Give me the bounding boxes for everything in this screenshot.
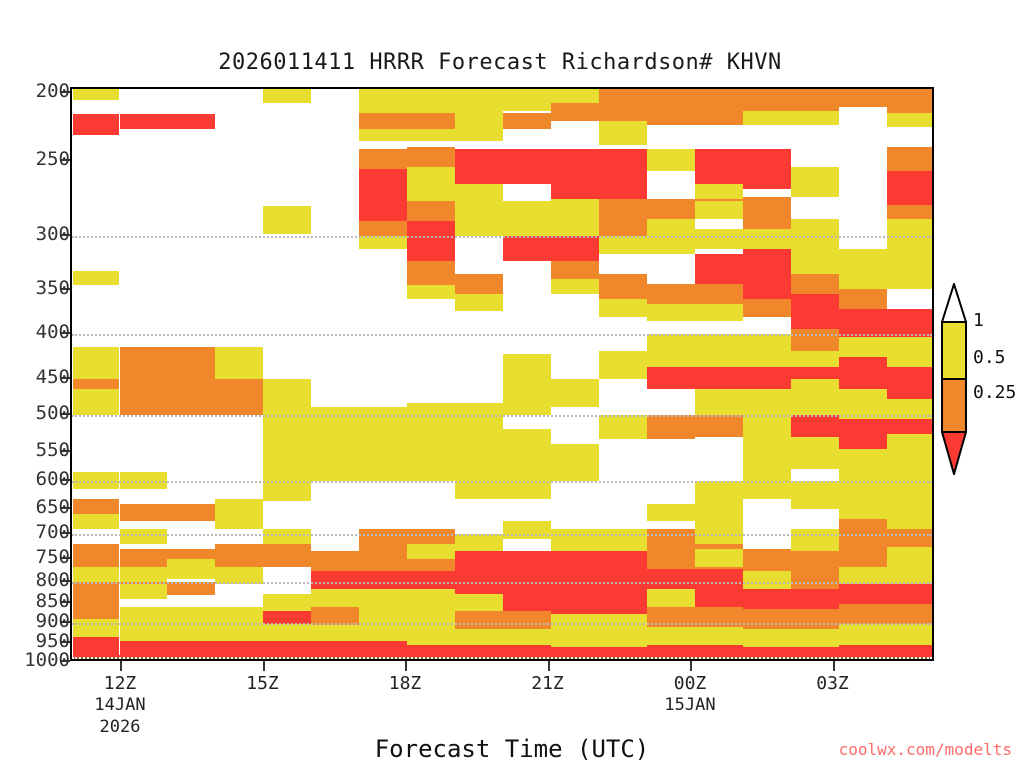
x-tick-year-label: 2026 — [100, 717, 141, 737]
heatmap-cell — [839, 249, 887, 289]
heatmap-cell — [215, 567, 263, 584]
x-tick-mark — [263, 661, 265, 671]
heatmap-cell — [455, 429, 551, 499]
y-tick-label: 300 — [8, 223, 70, 245]
heatmap-cell — [263, 481, 311, 501]
heatmap-cell — [263, 439, 311, 481]
heatmap-cell — [503, 594, 551, 611]
heatmap-cell — [887, 547, 934, 569]
heatmap-cell — [455, 594, 503, 611]
heatmap-cell — [120, 624, 215, 641]
y-tick-label: 1000 — [8, 649, 70, 671]
heatmap-cell — [695, 389, 791, 415]
y-tick-label: 600 — [8, 468, 70, 490]
heatmap-cell — [73, 89, 119, 100]
heatmap-cell — [839, 624, 934, 645]
colorbar-tick-label: 1 — [973, 310, 984, 331]
heatmap-cell — [359, 571, 455, 589]
heatmap-cell — [791, 294, 839, 329]
colorbar-tick-label: 0.25 — [973, 382, 1016, 403]
heatmap-cell — [887, 337, 934, 367]
heatmap-cell — [120, 114, 215, 129]
heatmap-cell — [455, 294, 503, 311]
heatmap-cell — [455, 149, 551, 184]
heatmap-cell — [647, 529, 695, 544]
heatmap-cell — [647, 149, 695, 171]
heatmap-cell — [839, 584, 934, 604]
heatmap-cell — [647, 415, 695, 439]
heatmap-cell — [359, 589, 455, 607]
heatmap-cell — [743, 89, 839, 111]
page-title: 2026011411 HRRR Forecast Richardson# KHV… — [0, 50, 1000, 75]
heatmap-cell — [263, 594, 311, 611]
heatmap-cell — [791, 167, 839, 197]
heatmap-cell — [407, 167, 455, 201]
heatmap-cell — [551, 444, 599, 481]
heatmap-cell — [455, 105, 503, 141]
x-tick-label: 15Z — [246, 673, 279, 694]
heatmap-cell — [73, 567, 119, 582]
y-tick-label: 550 — [8, 439, 70, 461]
heatmap-cell — [407, 221, 455, 261]
heatmap-cell — [695, 149, 743, 184]
x-tick-date-label: 15JAN — [664, 695, 715, 715]
heatmap-cell — [551, 379, 599, 407]
heatmap-cell — [887, 89, 934, 113]
colorbar-body — [941, 321, 967, 431]
heatmap-cell — [73, 119, 119, 135]
heatmap-cell — [73, 619, 119, 637]
heatmap-cell — [743, 571, 791, 589]
y-tick-label: 750 — [8, 546, 70, 568]
heatmap-cell — [743, 111, 839, 125]
heatmap-cell — [359, 429, 455, 481]
x-tick-date-label: 14JAN — [94, 695, 145, 715]
heatmap-cell — [743, 149, 791, 189]
heatmap-cell — [263, 206, 311, 234]
heatmap-cell — [743, 437, 839, 469]
y-tick-label: 900 — [8, 610, 70, 632]
heatmap-cell — [215, 514, 263, 529]
heatmap-cell — [263, 611, 311, 625]
heatmap-cell — [791, 481, 839, 509]
heatmap-cell — [551, 551, 647, 577]
heatmap-cell — [839, 481, 887, 519]
heatmap-cell — [887, 205, 934, 219]
heatmap-cell — [359, 89, 455, 113]
heatmap-cell — [407, 147, 455, 167]
heatmap-cell — [215, 379, 263, 415]
heatmap-cell — [503, 201, 551, 236]
heatmap-cell — [647, 367, 743, 389]
heatmap-cell — [599, 415, 647, 439]
heatmap-cell — [743, 629, 839, 647]
y-axis: 2002503003504004505005506006507007508008… — [0, 87, 70, 661]
heatmap-cell — [73, 499, 119, 514]
heatmap-cell — [551, 279, 599, 294]
plot-area — [70, 87, 934, 661]
heatmap-cell — [73, 637, 119, 655]
heatmap-cell — [695, 415, 743, 437]
heatmap-cell — [407, 285, 455, 299]
x-tick-mark — [405, 661, 407, 671]
heatmap-cell — [120, 472, 167, 489]
heatmap-cell — [695, 481, 743, 504]
heatmap-cell — [647, 504, 695, 521]
heatmap-cell — [503, 236, 551, 261]
heatmap-cell — [743, 334, 791, 367]
heatmap-cell — [215, 607, 263, 624]
heatmap-cell — [215, 347, 263, 379]
y-tick-label: 850 — [8, 590, 70, 612]
heatmap-cell — [551, 149, 647, 199]
heatmap-cell — [695, 229, 791, 249]
heatmap-cell — [791, 415, 839, 439]
y-tick-label: 500 — [8, 402, 70, 424]
heatmap-cell — [503, 389, 551, 415]
heatmap-cell — [455, 184, 503, 201]
x-tick-mark — [120, 661, 122, 671]
chart-page: 2026011411 HRRR Forecast Richardson# KHV… — [0, 0, 1024, 768]
heatmap-cell — [695, 589, 743, 609]
heatmap-cell — [215, 624, 311, 641]
heatmap-cell — [743, 589, 839, 609]
x-tick-mark — [833, 661, 835, 671]
heatmap-cell — [647, 219, 695, 236]
heatmap-cell — [551, 261, 599, 279]
heatmap-cell — [647, 607, 743, 627]
heatmap-cell — [120, 504, 215, 521]
heatmap-cell — [839, 309, 934, 337]
heatmap-cell — [455, 629, 551, 645]
heatmap-cell — [839, 289, 887, 309]
heatmap-cell — [407, 544, 455, 559]
heatmap-cell — [215, 499, 263, 514]
heatmap-cell — [167, 582, 215, 595]
heatmap-cell — [551, 219, 599, 236]
heatmap-cell — [73, 347, 119, 379]
heatmap-cell — [455, 89, 503, 105]
heatmap-cell — [647, 105, 743, 125]
y-tick-label: 450 — [8, 366, 70, 388]
heatmap-cell — [73, 514, 119, 529]
heatmap-cell — [599, 121, 647, 145]
y-tick-label: 700 — [8, 521, 70, 543]
x-tick-label: 12Z — [104, 673, 137, 694]
heatmap-cell — [839, 389, 887, 419]
colorbar-legend: 10.50.25 — [941, 283, 1023, 473]
heatmap-cell — [551, 631, 647, 647]
heatmap-cell — [887, 113, 934, 127]
heatmap-cell — [359, 607, 455, 627]
heatmap-cell — [120, 607, 215, 624]
heatmap-cell — [647, 89, 743, 105]
heatmap-cell — [599, 299, 647, 317]
heatmap-cell — [73, 379, 119, 389]
colorbar-divider — [943, 378, 965, 380]
heatmap-cell — [887, 147, 934, 171]
heatmap-cell — [551, 577, 647, 597]
heatmap-cell — [120, 529, 167, 544]
y-tick-label: 400 — [8, 321, 70, 343]
heatmap-cell — [695, 201, 743, 219]
y-tick-label: 800 — [8, 569, 70, 591]
heatmap-cell — [311, 434, 359, 481]
heatmap-cell — [695, 254, 743, 284]
heatmap-cell — [407, 261, 455, 285]
watermark: coolwx.com/modelts — [839, 740, 1012, 759]
heatmap-cell — [503, 521, 551, 539]
heatmap-cell — [359, 169, 407, 221]
heatmap-cell — [791, 571, 839, 589]
heatmap-cell — [551, 103, 647, 121]
heatmap-cell — [73, 472, 119, 489]
heatmap-cell — [887, 171, 934, 205]
heatmap-cell — [455, 201, 503, 236]
terrain-band — [72, 657, 932, 659]
heatmap-cell — [311, 607, 359, 625]
heatmap-cell — [407, 201, 455, 221]
heatmap-cell — [887, 434, 934, 481]
heatmap-cell — [743, 609, 839, 629]
heatmap-cell — [839, 604, 934, 624]
heatmap-cell — [167, 559, 215, 579]
heatmap-cell — [743, 197, 791, 229]
heatmap-cell — [839, 449, 887, 481]
heatmap-cell — [791, 379, 839, 415]
heatmap-cell — [215, 544, 311, 567]
heatmap-cell — [647, 284, 743, 304]
heatmap-cell — [551, 614, 647, 631]
heatmap-cell — [887, 249, 934, 289]
heatmap-cell — [503, 354, 551, 389]
heatmap-cell — [455, 574, 551, 594]
colorbar-segment-0.25-0.5 — [943, 378, 965, 433]
heatmap-cell — [455, 274, 503, 294]
heatmap-cell — [551, 529, 647, 551]
heatmap-cell — [839, 519, 887, 537]
heatmap-cell — [73, 389, 119, 415]
heatmap-cell — [839, 567, 934, 584]
heatmap-cell — [743, 299, 791, 317]
heatmap-cell — [551, 597, 647, 614]
colorbar-segment-0.5-1 — [943, 323, 965, 378]
heatmap-cell — [839, 337, 887, 357]
x-tick-mark — [690, 661, 692, 671]
x-tick-label: 03Z — [816, 673, 849, 694]
x-tick-label: 00Z — [674, 673, 707, 694]
y-tick-label: 650 — [8, 496, 70, 518]
heatmap-cell — [359, 129, 455, 141]
heatmap-cell — [120, 567, 167, 582]
x-tick-label: 18Z — [389, 673, 422, 694]
heatmap-cell — [647, 304, 743, 321]
y-tick-label: 200 — [8, 80, 70, 102]
heatmap-cell — [599, 274, 647, 299]
heatmap-cell — [887, 529, 934, 547]
heatmap-cell — [791, 274, 839, 294]
heatmap-cell — [839, 89, 887, 107]
heatmap-cell — [647, 589, 695, 607]
heatmap-cell — [455, 551, 551, 574]
heatmap-cell — [599, 89, 647, 103]
heatmap-cell — [311, 589, 359, 607]
colorbar-above-max-arrow — [941, 283, 967, 323]
heatmap-cell — [743, 549, 839, 571]
heatmap-cell — [599, 199, 647, 236]
heatmap-cell — [839, 357, 887, 389]
y-tick-label: 350 — [8, 277, 70, 299]
heatmap-cell — [695, 549, 743, 567]
heatmap-cell — [791, 529, 839, 551]
heatmap-cell — [647, 569, 743, 589]
heatmap-cell — [120, 584, 167, 599]
heatmap-cell — [551, 199, 599, 219]
x-tick-mark — [548, 661, 550, 671]
heatmap-cell — [551, 236, 599, 261]
x-tick-label: 21Z — [531, 673, 564, 694]
heatmap-cell — [791, 329, 839, 351]
heatmap-cell — [599, 236, 695, 254]
heatmap-cell — [887, 367, 934, 399]
heatmap-cell — [647, 627, 743, 645]
heatmap-cell — [73, 599, 119, 619]
heatmap-cell — [455, 534, 503, 551]
y-tick-label: 250 — [8, 148, 70, 170]
heatmap-cell — [455, 611, 551, 629]
heatmap-cell — [120, 347, 215, 415]
heatmap-cell — [887, 219, 934, 249]
heatmap-cell — [73, 271, 119, 285]
heatmap-cell — [743, 274, 791, 299]
colorbar-tick-label: 0.5 — [973, 347, 1006, 368]
heatmap-cell — [743, 415, 791, 437]
heatmap-cell — [263, 89, 311, 103]
heatmap-cell — [599, 351, 647, 379]
heatmap-cell — [887, 509, 934, 529]
heatmap-cell — [359, 149, 407, 169]
heatmap-cell — [791, 219, 839, 274]
colorbar-below-min-arrow — [941, 431, 967, 479]
heatmap-cell — [647, 334, 743, 367]
heatmap-cell — [743, 469, 791, 499]
heatmap-cell — [73, 544, 119, 567]
heatmap-cell — [73, 582, 119, 599]
heatmap-cell — [359, 221, 407, 236]
heatmap-cell — [839, 537, 887, 567]
